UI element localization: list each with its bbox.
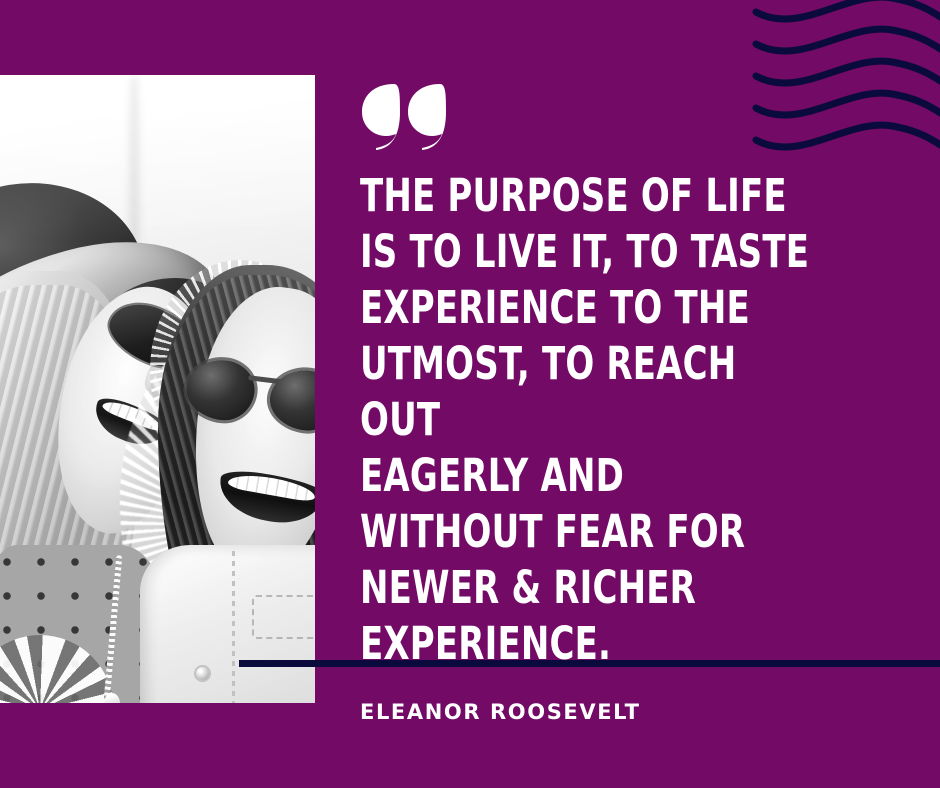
- quote-mark-icon: [360, 82, 450, 152]
- quote-text: The purpose of life is to live it, to ta…: [360, 168, 814, 672]
- denim-jacket-button: [196, 667, 209, 680]
- sunglass-lens-left: [183, 356, 258, 424]
- attribution-name: ELEANOR ROOSEVELT: [360, 700, 641, 724]
- divider-line: [239, 660, 940, 667]
- sunglass-lens-right: [267, 366, 315, 434]
- denim-jacket-seam: [232, 551, 235, 703]
- photo-image: [0, 75, 315, 703]
- wave-lines-decoration: [730, 0, 940, 167]
- photo: [0, 75, 315, 703]
- denim-jacket-pocket: [252, 595, 315, 639]
- quote-card: The purpose of life is to live it, to ta…: [0, 0, 940, 788]
